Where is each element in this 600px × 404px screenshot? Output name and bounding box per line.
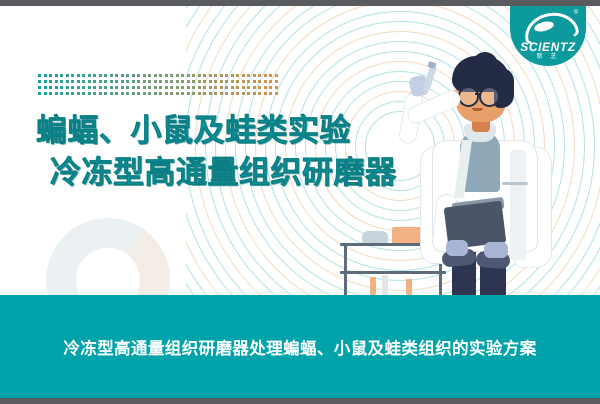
- poster-artboard: 蝙蝠、小鼠及蛙类实验 冷冻型高通量组织研磨器: [0, 6, 600, 398]
- headline-line-1: 蝙蝠、小鼠及蛙类实验: [36, 110, 397, 152]
- dot-grid-icon: [38, 74, 283, 100]
- poster-canvas: 蝙蝠、小鼠及蛙类实验 冷冻型高通量组织研磨器: [0, 0, 600, 404]
- round-glasses-icon: [458, 86, 479, 107]
- logo-brand-name-cn: 新 芝: [510, 51, 586, 60]
- scientz-shield-logo-icon[interactable]: ® SCIENTZ 新 芝: [510, 6, 586, 66]
- bottom-banner: 冷冻型高通量组织研磨器处理蝙蝠、小鼠及蛙类组织的实验方案: [0, 295, 600, 398]
- top-chrome-bar: [0, 0, 600, 6]
- banner-caption: 冷冻型高通量组织研磨器处理蝙蝠、小鼠及蛙类组织的实验方案: [63, 335, 536, 359]
- headline-block: 蝙蝠、小鼠及蛙类实验 冷冻型高通量组织研磨器: [36, 110, 397, 194]
- registered-mark: ®: [574, 10, 578, 16]
- bottom-chrome-bar: [0, 398, 600, 404]
- headline-line-2: 冷冻型高通量组织研磨器: [50, 152, 397, 194]
